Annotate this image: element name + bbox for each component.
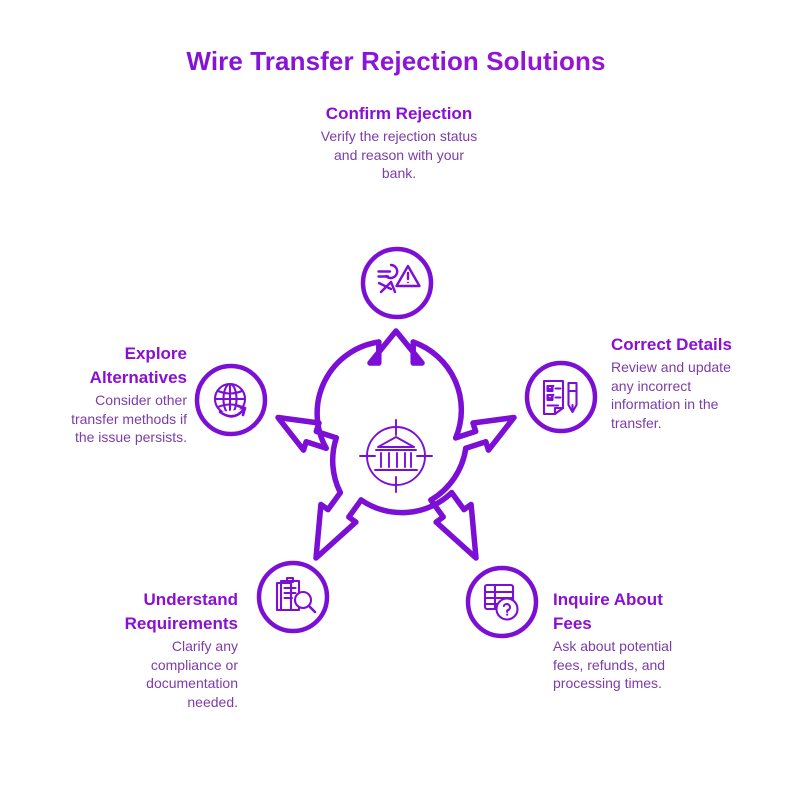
node-icon-correct-details[interactable]	[527, 363, 595, 431]
node-icon-confirm-rejection[interactable]	[363, 249, 431, 317]
node-description-understand-requirements: Clarify any compliance or documentation …	[104, 637, 238, 711]
node-text-confirm-rejection: Confirm Rejection Verify the rejection s…	[316, 102, 482, 183]
node-heading-confirm-rejection: Confirm Rejection	[316, 102, 482, 126]
node-description-correct-details: Review and update any incorrect informat…	[611, 358, 751, 432]
bank-target-icon	[360, 420, 432, 492]
node-description-explore-alternatives: Consider other transfer methods if the i…	[52, 391, 187, 447]
node-icon-explore-alternatives[interactable]	[197, 366, 265, 434]
node-heading-explore-alternatives: Explore Alternatives	[52, 342, 187, 390]
node-heading-understand-requirements: Understand Requirements	[104, 588, 238, 636]
node-text-explore-alternatives: Explore Alternatives Consider other tran…	[52, 342, 187, 447]
node-heading-correct-details: Correct Details	[611, 333, 751, 357]
node-icon-understand-requirements[interactable]	[259, 563, 327, 631]
node-text-inquire-about-fees: Inquire About Fees Ask about potential f…	[553, 588, 698, 693]
hub-arrows-group	[278, 331, 514, 558]
arrow-bottom-left	[316, 493, 361, 558]
node-icon-inquire-about-fees[interactable]	[468, 568, 536, 636]
node-description-inquire-about-fees: Ask about potential fees, refunds, and p…	[553, 637, 698, 693]
node-text-correct-details: Correct Details Review and update any in…	[611, 333, 751, 433]
node-text-understand-requirements: Understand Requirements Clarify any comp…	[104, 588, 238, 712]
node-heading-inquire-about-fees: Inquire About Fees	[553, 588, 698, 636]
node-description-confirm-rejection: Verify the rejection status and reason w…	[316, 127, 482, 183]
arrow-right	[456, 418, 514, 451]
